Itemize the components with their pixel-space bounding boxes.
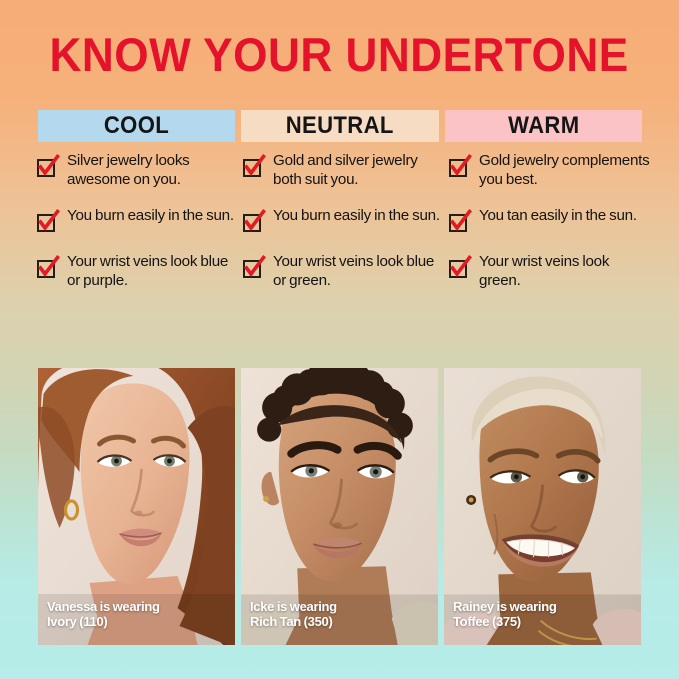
checklist-item: You tan easily in the sun. bbox=[448, 207, 650, 235]
checklist-columns: Silver jewelry looks awesome on you. You… bbox=[36, 152, 646, 308]
checkbox-checked-icon bbox=[448, 255, 472, 281]
column-header-cool-label: COOL bbox=[104, 112, 169, 140]
checklist-item: Your wrist veins look blue or green. bbox=[242, 253, 444, 290]
checkbox-checked-icon bbox=[448, 154, 472, 180]
checklist-item-label: Your wrist veins look blue or purple. bbox=[67, 253, 238, 290]
title-container: KNOW YOUR UNDERTONE bbox=[0, 30, 679, 80]
checkbox-checked-icon bbox=[36, 209, 60, 235]
column-header-warm: WARM bbox=[445, 110, 642, 142]
column-header-neutral: NEUTRAL bbox=[241, 110, 438, 142]
checkbox-checked-icon bbox=[242, 209, 266, 235]
checklist-item-label: You tan easily in the sun. bbox=[479, 207, 637, 226]
checklist-item-label: Silver jewelry looks awesome on you. bbox=[67, 152, 238, 189]
checkbox-checked-icon bbox=[36, 255, 60, 281]
model-photo-rainey: Rainey is wearing Toffee (375) bbox=[444, 368, 641, 645]
checklist-item: Gold and silver jewelry both suit you. bbox=[242, 152, 444, 189]
checkbox-checked-icon bbox=[448, 209, 472, 235]
photo-caption-rainey: Rainey is wearing Toffee (375) bbox=[453, 599, 557, 629]
checklist-item-label: Your wrist veins look green. bbox=[479, 253, 650, 290]
model-photo-icke: Icke is wearing Rich Tan (350) bbox=[241, 368, 438, 645]
column-headers: COOL NEUTRAL WARM bbox=[38, 110, 642, 142]
checklist-item: You burn easily in the sun. bbox=[242, 207, 444, 235]
model-photo-vanessa: Vanessa is wearing Ivory (110) bbox=[38, 368, 235, 645]
checkbox-checked-icon bbox=[36, 154, 60, 180]
checklist-item: Silver jewelry looks awesome on you. bbox=[36, 152, 238, 189]
checklist-item-label: Gold and silver jewelry both suit you. bbox=[273, 152, 444, 189]
photo-caption-icke: Icke is wearing Rich Tan (350) bbox=[250, 599, 337, 629]
photo-caption-line1: Vanessa is wearing bbox=[47, 599, 160, 614]
photo-caption-vanessa: Vanessa is wearing Ivory (110) bbox=[47, 599, 160, 629]
checklist-item: You burn easily in the sun. bbox=[36, 207, 238, 235]
column-header-cool: COOL bbox=[38, 110, 235, 142]
checklist-column-neutral: Gold and silver jewelry both suit you. Y… bbox=[242, 152, 444, 308]
checklist-column-warm: Gold jewelry complements you best. You t… bbox=[448, 152, 650, 308]
column-header-warm-label: WARM bbox=[508, 112, 579, 140]
checklist-item: Your wrist veins look green. bbox=[448, 253, 650, 290]
undertone-infographic: KNOW YOUR UNDERTONE COOL NEUTRAL WARM Si… bbox=[0, 0, 679, 679]
checklist-item-label: Your wrist veins look blue or green. bbox=[273, 253, 444, 290]
page-title: KNOW YOUR UNDERTONE bbox=[50, 30, 629, 80]
checklist-item: Your wrist veins look blue or purple. bbox=[36, 253, 238, 290]
photo-caption-line1: Rainey is wearing bbox=[453, 599, 557, 614]
checklist-item-label: Gold jewelry complements you best. bbox=[479, 152, 650, 189]
checklist-item: Gold jewelry complements you best. bbox=[448, 152, 650, 189]
checklist-item-label: You burn easily in the sun. bbox=[273, 207, 440, 226]
checkbox-checked-icon bbox=[242, 255, 266, 281]
photo-caption-line2: Rich Tan (350) bbox=[250, 614, 337, 629]
checklist-column-cool: Silver jewelry looks awesome on you. You… bbox=[36, 152, 238, 308]
photo-caption-line2: Toffee (375) bbox=[453, 614, 557, 629]
checklist-item-label: You burn easily in the sun. bbox=[67, 207, 234, 226]
column-header-neutral-label: NEUTRAL bbox=[286, 112, 394, 140]
photo-caption-line2: Ivory (110) bbox=[47, 614, 160, 629]
model-photo-row: Vanessa is wearing Ivory (110) bbox=[38, 368, 641, 645]
checkbox-checked-icon bbox=[242, 154, 266, 180]
photo-caption-line1: Icke is wearing bbox=[250, 599, 337, 614]
